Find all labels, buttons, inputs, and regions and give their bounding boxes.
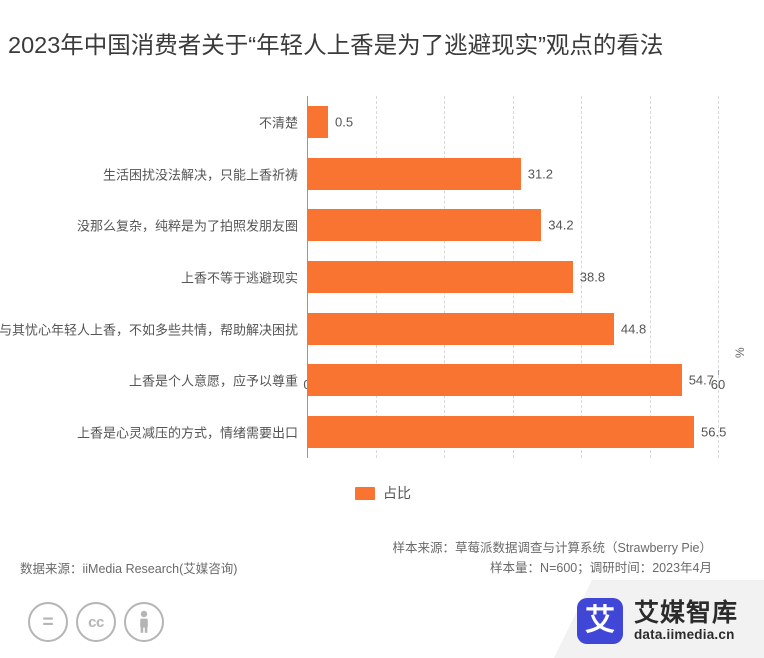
bar-row: 没那么复杂，纯粹是为了拍照发朋友圈34.2	[307, 199, 718, 251]
category-label: 不清楚	[259, 112, 298, 131]
category-label: 上香不等于逃避现实	[181, 267, 298, 286]
bar-value-label: 44.8	[621, 321, 646, 336]
license-icons: = cc	[28, 602, 164, 642]
category-label: 与其忧心年轻人上香，不如多些共情，帮助解决困扰	[0, 319, 298, 338]
category-label: 生活困扰没法解决，只能上香祈祷	[103, 164, 298, 183]
category-label: 上香是心灵减压的方式，情绪需要出口	[77, 422, 298, 441]
bar-value-label: 54.7	[689, 373, 714, 388]
bar-value-label: 56.5	[701, 424, 726, 439]
brand-mark-icon: 艾	[577, 598, 623, 644]
plot-area: 不清楚0.5生活困扰没法解决，只能上香祈祷31.2没那么复杂，纯粹是为了拍照发朋…	[307, 96, 718, 458]
cc-icon: cc	[76, 602, 116, 642]
x-axis-unit-label: %	[733, 347, 747, 358]
sample-note: 样本来源：草莓派数据调查与计算系统（Strawberry Pie） 样本量：N=…	[393, 538, 712, 578]
page-title: 2023年中国消费者关于“年轻人上香是为了逃避现实”观点的看法	[8, 26, 764, 60]
bar-row: 与其忧心年轻人上香，不如多些共情，帮助解决困扰44.8	[307, 303, 718, 355]
bar-value-label: 34.2	[548, 218, 573, 233]
legend-label-proportion: 占比	[383, 483, 411, 503]
gridline	[718, 96, 719, 458]
bar-row: 上香是心灵减压的方式，情绪需要出口56.5	[307, 406, 718, 458]
brand-text: 艾媒智库 data.iimedia.cn	[634, 600, 738, 642]
brand-url: data.iimedia.cn	[634, 628, 738, 642]
bar-row: 不清楚0.5	[307, 96, 718, 148]
category-label: 没那么复杂，纯粹是为了拍照发朋友圈	[77, 216, 298, 235]
bar[interactable]: 31.2	[307, 158, 521, 190]
cc-icon-glyph: cc	[88, 615, 104, 630]
x-tick	[718, 370, 719, 375]
bar-value-label: 38.8	[580, 269, 605, 284]
category-label: 上香是个人意愿，应予以尊重	[129, 371, 298, 390]
bar[interactable]: 0.5	[307, 106, 328, 138]
chart-legend[interactable]: 占比	[355, 483, 411, 503]
bar[interactable]: 38.8	[307, 261, 573, 293]
brand-logo: 艾 艾媒智库 data.iimedia.cn	[577, 598, 738, 644]
bar[interactable]: 56.5	[307, 416, 694, 448]
bar-row: 生活困扰没法解决，只能上香祈祷31.2	[307, 148, 718, 200]
bar-rows: 不清楚0.5生活困扰没法解决，只能上香祈祷31.2没那么复杂，纯粹是为了拍照发朋…	[307, 96, 718, 458]
bar-row: 上香不等于逃避现实38.8	[307, 251, 718, 303]
equals-icon-glyph: =	[42, 613, 53, 632]
sample-size-line: 样本量：N=600；调研时间：2023年4月	[393, 558, 712, 578]
person-icon	[124, 602, 164, 642]
bar[interactable]: 44.8	[307, 313, 614, 345]
data-source-note: 数据来源：iiMedia Research(艾媒咨询)	[20, 558, 237, 577]
equals-icon: =	[28, 602, 68, 642]
sample-source-line: 样本来源：草莓派数据调查与计算系统（Strawberry Pie）	[393, 538, 712, 558]
bar-value-label: 0.5	[335, 114, 353, 129]
bar-value-label: 31.2	[528, 166, 553, 181]
brand-name: 艾媒智库	[634, 600, 738, 626]
legend-swatch-proportion	[355, 487, 375, 500]
bar[interactable]: 34.2	[307, 209, 541, 241]
bar[interactable]: 54.7	[307, 364, 682, 396]
bar-chart: 不清楚0.5生活困扰没法解决，只能上香祈祷31.2没那么复杂，纯粹是为了拍照发朋…	[0, 88, 764, 468]
